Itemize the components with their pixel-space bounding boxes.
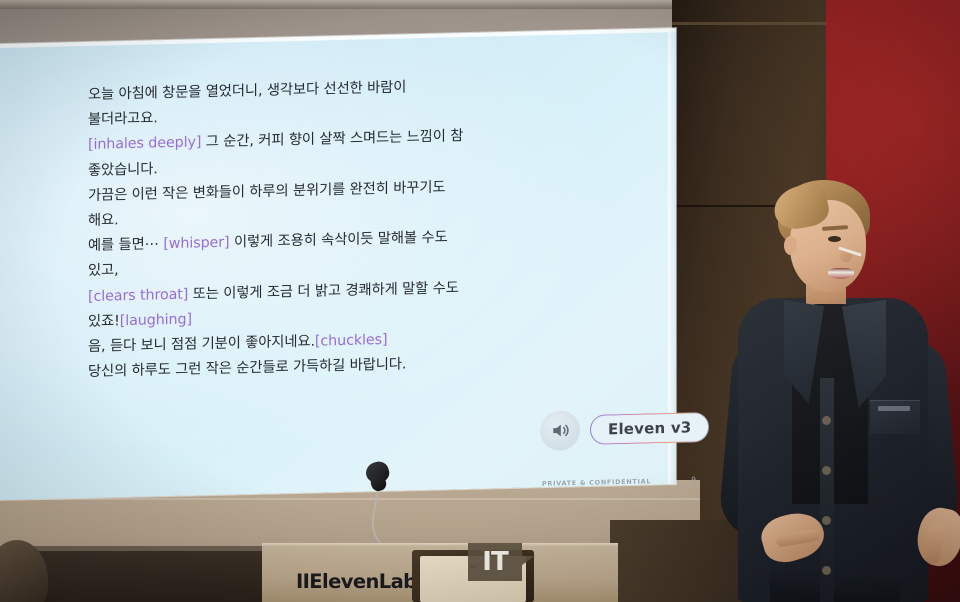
slide-text-run: 있죠!: [88, 313, 120, 330]
slide-text-run: 예를 들면⋯: [88, 236, 163, 254]
slide-text-run: 그 순간, 커피 향이 살짝 스며드는 느낌이 참: [201, 129, 463, 151]
slide-text-run: 가끔은 이런 작은 변화들이 하루의 분위기를 완전히 바꾸기도: [88, 179, 445, 203]
slide-page-number: 9: [691, 475, 696, 484]
audio-tag: [chuckles]: [315, 332, 388, 350]
slide-text-run: 해요.: [88, 212, 119, 229]
podium-logo: IIElevenLabs: [296, 570, 428, 593]
slide-text-run: 이렇게 조용히 속삭이듯 말해볼 수도: [230, 230, 448, 251]
ceiling-lip: [0, 0, 700, 9]
audio-tag: [whisper]: [163, 235, 229, 253]
speaker-sound-icon[interactable]: [540, 410, 580, 451]
wall-trim-line: [0, 498, 700, 500]
dark-lower-panel-top: [0, 546, 268, 551]
jacket-button: [822, 466, 831, 475]
wood-panel-seam: [672, 22, 832, 25]
presenter-eye: [828, 236, 841, 242]
model-version-label: Eleven v3: [608, 418, 691, 438]
presenter-ear: [784, 236, 797, 255]
model-badge-row: Eleven v3: [540, 407, 709, 451]
slide-text-run: 오늘 아침에 창문을 열었더니, 생각보다 선선한 바람이: [88, 79, 406, 103]
conference-photo-scene: 오늘 아침에 창문을 열었더니, 생각보다 선선한 바람이불더라고요.[inha…: [0, 0, 960, 602]
slide-text-run: 좋았습니다.: [88, 161, 158, 179]
slide-text-block: 오늘 아침에 창문을 열었더니, 생각보다 선선한 바람이불더라고요.[inha…: [88, 73, 508, 385]
audio-tag: [clears throat]: [88, 286, 188, 304]
presenter-figure: [700, 178, 960, 602]
jacket-brand-mark: [878, 406, 910, 411]
audio-tag: [inhales deeply]: [88, 135, 201, 154]
slide-text-run: 음, 듣다 보니 점점 기분이 좋아지네요.: [88, 334, 315, 355]
jacket-button: [822, 566, 831, 575]
jacket-button: [822, 516, 831, 525]
model-version-pill[interactable]: Eleven v3: [590, 412, 709, 445]
slide-text-run: 당신의 하루도 그런 작은 순간들로 가득하길 바랍니다.: [88, 357, 406, 381]
presenter-trousers: [770, 570, 900, 602]
presenter-mouth: [828, 268, 854, 279]
it-watermark-label: IT: [482, 547, 507, 577]
it-watermark-badge: IT: [468, 543, 522, 581]
jacket-button: [822, 416, 831, 425]
slide-text-run: 있고,: [88, 263, 119, 280]
audio-tag: [laughing]: [120, 311, 192, 329]
slide-text-run: 불더라고요.: [88, 111, 158, 129]
slide-text-run: 또는 이렇게 조금 더 밝고 경쾌하게 말할 수도: [188, 280, 459, 302]
